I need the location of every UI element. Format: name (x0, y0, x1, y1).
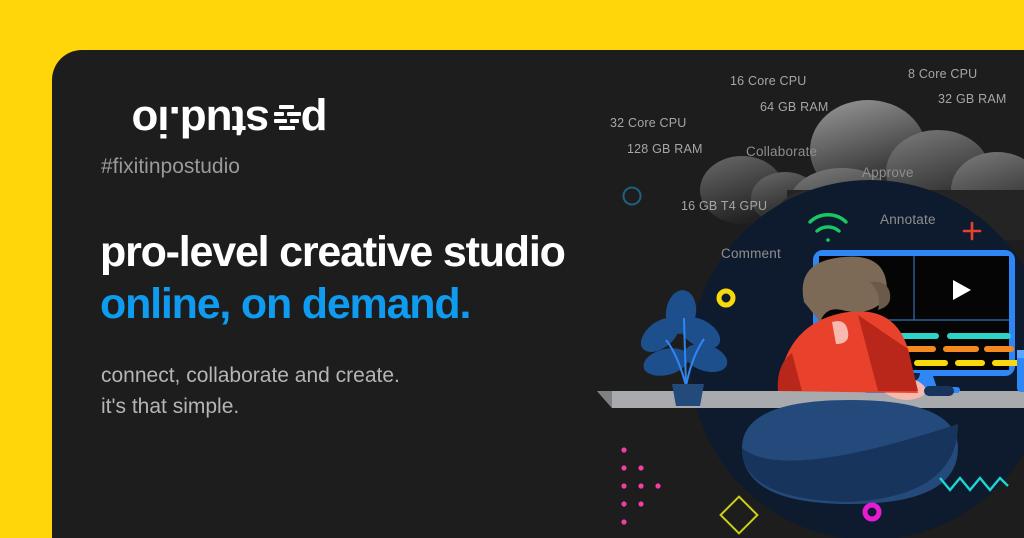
banner-canvas: 32 Core CPU 128 GB RAM 16 Core CPU 64 GB… (0, 0, 1024, 538)
hashtag-label: #fixitinpostudio (101, 155, 240, 179)
subcopy-line-2: it's that simple. (101, 391, 400, 422)
chair-icon (742, 400, 958, 504)
subcopy-line-1: connect, collaborate and create. (101, 360, 400, 391)
logo-text-part-b: stud.io (132, 97, 269, 146)
action-label: Comment (721, 246, 781, 261)
logo-text-part-a: p (302, 97, 328, 146)
action-label: Collaborate (746, 144, 817, 159)
logo-timeline-o-icon (271, 103, 301, 133)
spec-label: 16 Core CPU (730, 74, 807, 88)
headline-line-1: pro-level creative studio (100, 226, 565, 278)
diamond-icon (721, 497, 758, 534)
mug-icon (1017, 350, 1024, 392)
spec-label: 32 GB RAM (938, 92, 1007, 106)
dot-grid-icon (621, 447, 660, 524)
spec-label: 8 Core CPU (908, 67, 977, 81)
action-label: Approve (862, 165, 914, 180)
spec-label: 16 GB T4 GPU (681, 199, 767, 213)
dark-content-panel: 32 Core CPU 128 GB RAM 16 Core CPU 64 GB… (52, 50, 1024, 538)
spec-label: 64 GB RAM (760, 100, 829, 114)
spec-label: 128 GB RAM (627, 142, 703, 156)
action-label: Annotate (880, 212, 936, 227)
plant-pot (672, 384, 704, 406)
spec-label: 32 Core CPU (610, 116, 687, 130)
mouse-icon (924, 386, 954, 396)
logo[interactable]: p stud.io (100, 95, 360, 147)
headline-line-2: online, on demand. (100, 278, 565, 330)
logo-text: p stud.io (100, 95, 360, 147)
hero-subcopy: connect, collaborate and create. it's th… (101, 360, 400, 422)
hero-headline: pro-level creative studio online, on dem… (100, 226, 565, 330)
teal-ring-icon (624, 188, 641, 205)
